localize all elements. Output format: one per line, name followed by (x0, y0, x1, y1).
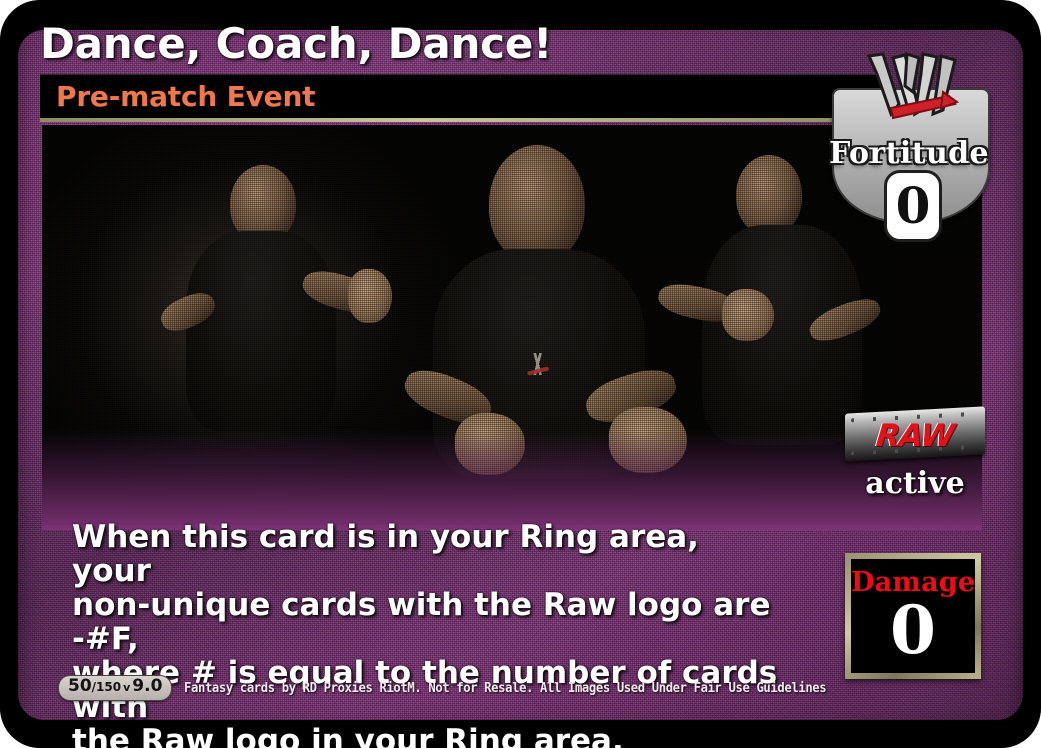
brand-status-label: active (845, 466, 985, 501)
card-type-label: Pre-match Event (56, 80, 315, 113)
figure-left (152, 165, 382, 495)
rules-line: the Raw logo in your Ring area. (72, 724, 784, 748)
card-type-underline (40, 118, 884, 122)
figure-head (489, 145, 585, 263)
figure-arm (399, 362, 497, 433)
brand-block: RAW active (845, 410, 985, 506)
card-page: Dance, Coach, Dance! Pre-match Event (0, 0, 1041, 748)
damage-box: Damage 0 (845, 553, 981, 679)
card-footer: 50 /150 v 9.0 Fantasy cards by RD Proxie… (58, 675, 868, 701)
card-number-value: 50 (68, 676, 92, 696)
raw-logo-text: RAW (843, 418, 987, 454)
fortitude-value: 0 (884, 170, 942, 242)
figure-head (736, 155, 802, 235)
figure-arm (581, 362, 681, 430)
card-version-prefix: v (121, 681, 132, 694)
title-band: Dance, Coach, Dance! (40, 12, 920, 74)
figure-arm (805, 292, 885, 348)
card-version-value: 9.0 (132, 676, 162, 696)
figure-hand (609, 407, 687, 473)
card-title: Dance, Coach, Dance! (40, 19, 552, 68)
figure-hand (722, 289, 774, 341)
wwe-shirt-slash-icon (527, 366, 549, 375)
figure-center (397, 145, 687, 525)
trading-card[interactable]: Dance, Coach, Dance! Pre-match Event (0, 0, 1041, 748)
fortitude-label: Fortitude (827, 136, 991, 171)
figure-head (230, 165, 296, 243)
card-type-bar: Pre-match Event (40, 74, 884, 118)
rules-line: When this card is in your Ring area, you… (72, 520, 784, 588)
rules-line: non-unique cards with the Raw logo are -… (72, 588, 784, 656)
figure-arm (299, 265, 383, 319)
figure-hand (455, 413, 525, 475)
figure-torso (433, 249, 645, 479)
card-number-badge: 50 /150 v 9.0 (58, 675, 172, 701)
wwe-scratch-logo-icon (863, 52, 959, 122)
fortitude-shield: Fortitude 0 (827, 52, 991, 227)
figure-torso (702, 225, 862, 445)
wwe-shirt-logo-icon (525, 353, 553, 375)
copyright-text: Fantasy cards by RD Proxies RiotM. Not f… (184, 681, 826, 696)
card-rules-text: When this card is in your Ring area, you… (72, 520, 784, 748)
figure-arm (656, 279, 741, 327)
figure-torso (186, 231, 336, 431)
damage-value: 0 (851, 597, 975, 663)
figure-hand (348, 269, 392, 323)
card-set-size: /150 (92, 680, 121, 694)
figure-arm (156, 287, 219, 337)
